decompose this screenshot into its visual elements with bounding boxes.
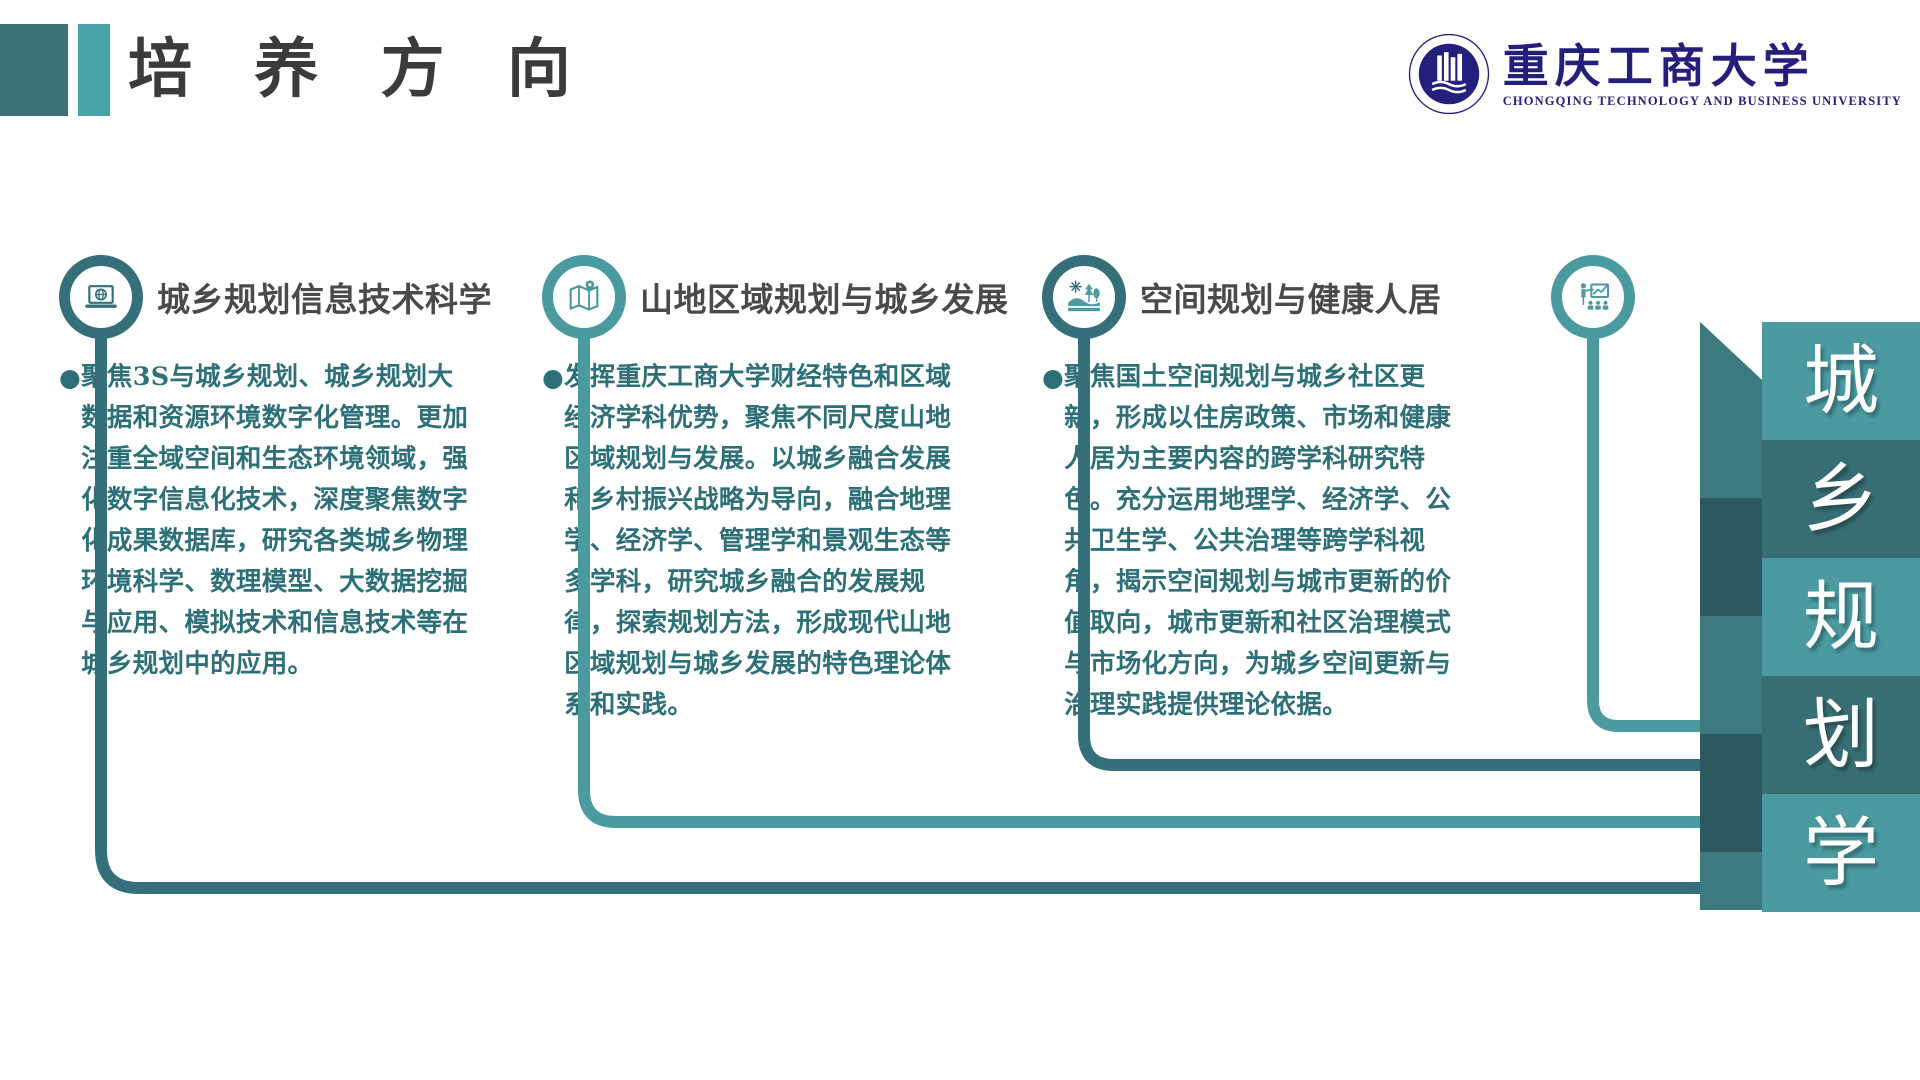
stack-cell: 学 [1762,794,1920,912]
landscape-sun-icon [1042,255,1126,339]
discipline-name-stack: 城 乡 规 划 学 [1762,322,1920,912]
stack-cell: 城 [1762,322,1920,440]
stack-cell: 规 [1762,558,1920,676]
slide-root: 培 养 方 向 重庆工商大学 CHONGQING TECHNOLOGY AND … [0,0,1920,1080]
track-end-badge[interactable] [1551,255,1635,339]
stack-cell: 划 [1762,676,1920,794]
connector-wires [0,0,1920,1080]
stack-cell: 乡 [1762,440,1920,558]
presenter-board-icon [1551,255,1635,339]
map-pin-icon [542,255,626,339]
laptop-globe-icon [59,255,143,339]
